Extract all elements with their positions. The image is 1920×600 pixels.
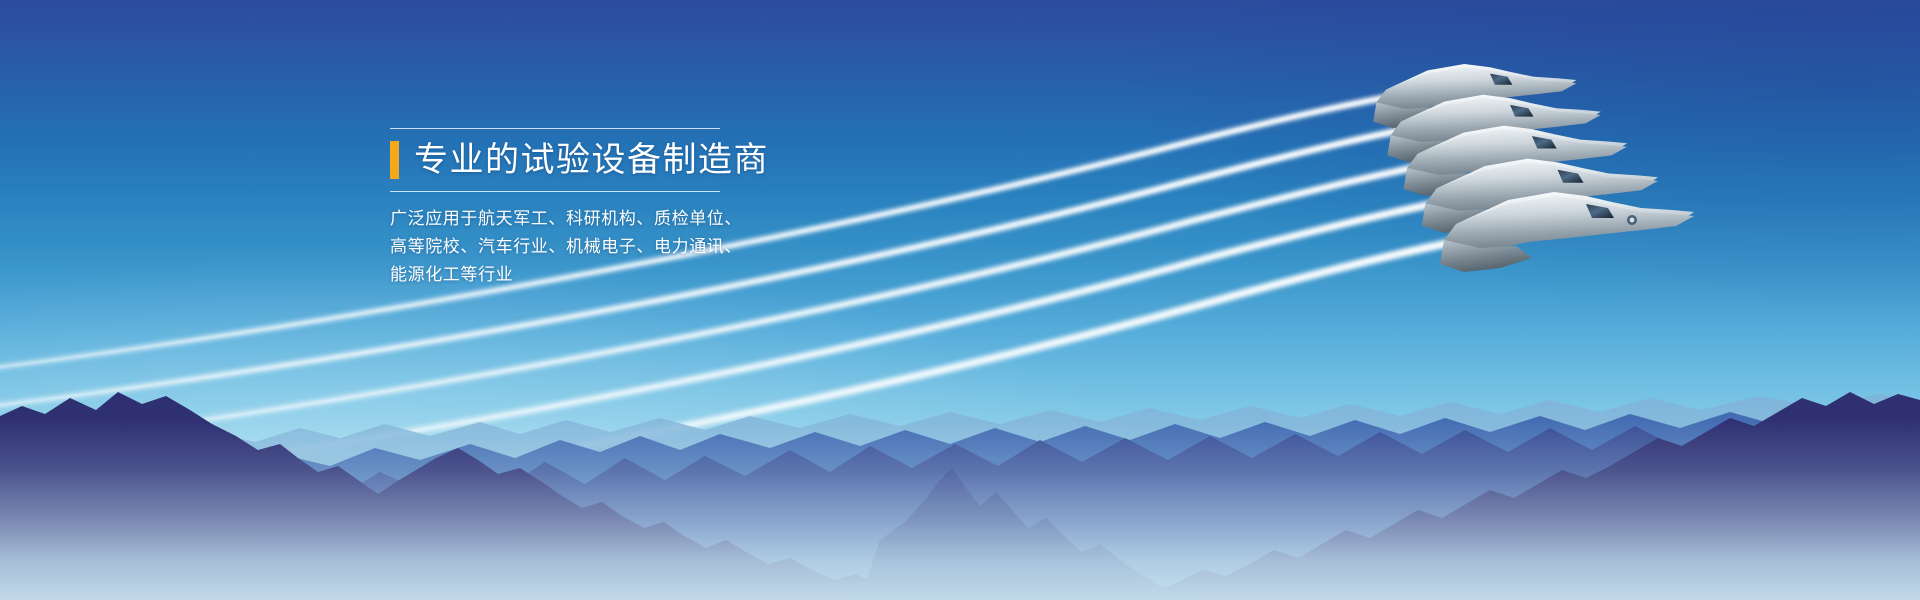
divider-bottom xyxy=(390,191,720,192)
banner-subtitle: 广泛应用于航天军工、科研机构、质检单位、 高等院校、汽车行业、机械电子、电力通讯… xyxy=(390,205,750,289)
jet-3 xyxy=(1404,126,1628,196)
subtitle-line-2: 高等院校、汽车行业、机械电子、电力通讯、 xyxy=(390,233,750,261)
fighter-jet-formation xyxy=(1370,48,1830,278)
subtitle-line-1: 广泛应用于航天军工、科研机构、质检单位、 xyxy=(390,205,750,233)
sky-glow xyxy=(0,0,1920,600)
banner-headline: 专业的试验设备制造商 xyxy=(414,141,769,179)
mountain-haze xyxy=(0,420,1920,600)
accent-bar xyxy=(390,141,399,179)
mountain-layer-far xyxy=(0,394,1920,600)
contrail-streaks xyxy=(0,84,1545,542)
mountain-range xyxy=(0,340,1920,600)
jet-4 xyxy=(1387,95,1600,162)
subtitle-line-3: 能源化工等行业 xyxy=(390,261,750,289)
mountain-layer-center-peaks xyxy=(860,468,1200,600)
jet-5 xyxy=(1373,64,1576,128)
mountain-layer-near-right xyxy=(1130,392,1920,600)
banner-copy: 专业的试验设备制造商 广泛应用于航天军工、科研机构、质检单位、 高等院校、汽车行… xyxy=(390,128,750,289)
headline-row: 专业的试验设备制造商 xyxy=(390,129,750,191)
mountain-layer-mid-2 xyxy=(0,420,1920,600)
mountain-layer-near-left xyxy=(0,392,930,600)
jet-2 xyxy=(1422,159,1658,233)
hero-banner: 专业的试验设备制造商 广泛应用于航天军工、科研机构、质检单位、 高等院校、汽车行… xyxy=(0,0,1920,600)
contrail-cores xyxy=(0,84,1545,542)
contrail-group xyxy=(0,0,1920,600)
jet-1 xyxy=(1440,192,1694,272)
mountain-layer-mid xyxy=(0,410,1920,600)
